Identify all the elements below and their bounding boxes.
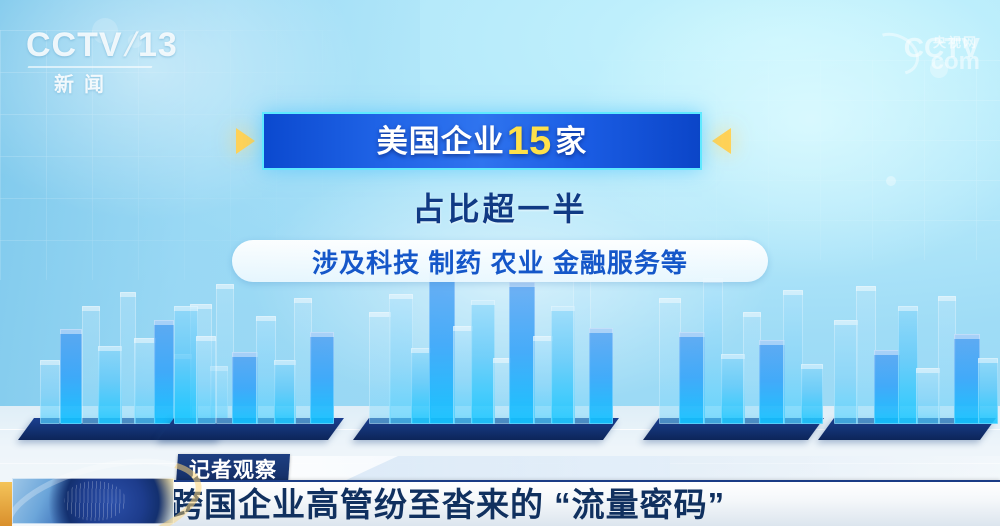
cityscape-bar	[874, 350, 900, 424]
cityscape-bar	[369, 312, 391, 424]
cityscape-bar	[533, 336, 553, 424]
cityscape-bar	[232, 352, 258, 424]
logo-subtitle: 新闻	[54, 68, 114, 97]
watermark-com-text: com	[931, 48, 980, 76]
cityscape-bar-cap	[783, 290, 803, 295]
cctv-channel-logo: CCTV/13 新闻	[26, 28, 186, 86]
cityscape-bar	[196, 336, 216, 424]
cityscape-bar	[856, 286, 876, 424]
cityscape-bar-cap	[310, 332, 334, 337]
banner-number: 15	[507, 119, 552, 163]
cityscape-bar	[429, 268, 455, 424]
cityscape-bar-cap	[294, 298, 312, 303]
cityscape-bar-cap	[174, 306, 198, 311]
banner-suffix: 家	[555, 124, 587, 159]
cityscape-bar-cap	[834, 320, 858, 325]
subtitle-text: 占比超一半	[0, 184, 1000, 230]
cityscape-bar	[898, 306, 918, 424]
cityscape-bar-cap	[898, 306, 918, 311]
cityscape-bar-cap	[232, 352, 258, 357]
cityscape-bar-cap	[411, 348, 431, 353]
cityscape-bar	[759, 340, 785, 424]
cityscape-bar	[721, 354, 745, 424]
cityscape-bar	[471, 300, 495, 424]
cityscape-bar	[916, 368, 940, 424]
cityscape-cluster	[820, 240, 995, 440]
cityscape-bar	[40, 360, 60, 424]
cityscape-bar-cap	[196, 336, 216, 341]
cityscape-bar-cap	[938, 296, 956, 301]
cityscape-bar-cap	[954, 334, 980, 339]
cityscape-bar-cap	[274, 360, 296, 365]
cityscape-bar-cap	[82, 306, 100, 311]
cityscape-bar-cap	[369, 312, 391, 317]
cityscape-bar	[659, 298, 681, 424]
cityscape-bar-cap	[874, 350, 900, 355]
cityscape-bar-cap	[453, 326, 473, 331]
cityscape-bar-cap	[721, 354, 745, 359]
cctv-com-watermark: CCTV 央视网 com	[904, 34, 980, 74]
headline-banner: 美国企业15家	[262, 112, 702, 170]
cityscape-bar-cap	[659, 298, 681, 303]
cityscape-bar-cap	[60, 329, 82, 334]
cityscape-bar-cap	[134, 338, 156, 343]
cityscape-bar	[978, 358, 998, 424]
lower-third-left-accent	[0, 482, 12, 526]
broadcast-frame: CCTV/13 新闻 CCTV 央视网 com 美国企业15家 占比超一半 涉及…	[0, 0, 1000, 526]
lower-third: 记者观察 跨国企业高管纷至沓来的 “流量密码”	[0, 440, 1000, 526]
logo-text: CCTV/13	[26, 28, 186, 62]
cityscape-bar-cap	[589, 328, 613, 333]
cityscape-bar	[954, 334, 980, 424]
cityscape-bar-cap	[40, 360, 60, 365]
cityscape-bar	[256, 316, 276, 424]
triangle-left-icon	[712, 128, 731, 154]
cityscape-bar-cap	[743, 312, 761, 317]
cityscape-bar	[509, 282, 535, 424]
logo-number: 13	[138, 26, 178, 64]
cityscape-bar-cap	[471, 300, 495, 305]
cityscape-bar	[453, 326, 473, 424]
lower-third-headline-bar: 跨国企业高管纷至沓来的 “流量密码”	[160, 480, 1000, 526]
sectors-pill: 涉及科技 制药 农业 金融服务等	[232, 240, 768, 282]
sectors-pill-text: 涉及科技 制药 农业 金融服务等	[312, 243, 688, 280]
cityscape-bar-cap	[120, 292, 136, 297]
cityscape-bar	[134, 338, 156, 424]
cityscape-bar-cap	[509, 282, 535, 287]
cityscape-bar-cap	[679, 332, 705, 337]
logo-cctv: CCTV	[26, 26, 123, 64]
cityscape-bar	[411, 348, 431, 424]
cityscape-bar	[60, 329, 82, 424]
cityscape-bar	[589, 328, 613, 424]
cityscape-bar	[389, 294, 413, 424]
headline-banner-text: 美国企业15家	[377, 121, 588, 161]
triangle-right-icon	[236, 128, 255, 154]
cityscape-bar-cap	[551, 306, 575, 311]
cityscape-bar	[174, 306, 198, 424]
cityscape-bar	[783, 290, 803, 424]
cityscape-bar-cap	[98, 346, 122, 351]
cityscape-bar	[274, 360, 296, 424]
banner-prefix: 美国企业	[377, 124, 505, 159]
lower-third-diagonal-secondary	[300, 456, 1000, 482]
cityscape-bar-cap	[856, 286, 876, 291]
cityscape-bar-cap	[978, 358, 998, 363]
globe-graphic	[12, 478, 174, 524]
cityscape-bar-cap	[216, 284, 234, 289]
cityscape-bar-cap	[916, 368, 940, 373]
cityscape-bar	[310, 332, 334, 424]
lower-third-headline: 跨国企业高管纷至沓来的 “流量密码”	[160, 488, 725, 521]
cityscape-bar	[98, 346, 122, 424]
cityscape-bar	[679, 332, 705, 424]
cityscape-bar-cap	[533, 336, 553, 341]
cityscape-bar	[834, 320, 858, 424]
cityscape-bar	[703, 278, 723, 424]
cityscape-bar-cap	[389, 294, 413, 299]
cityscape-bar-cap	[759, 340, 785, 345]
cityscape-bar-cap	[256, 316, 276, 321]
cityscape-bar	[551, 306, 575, 424]
